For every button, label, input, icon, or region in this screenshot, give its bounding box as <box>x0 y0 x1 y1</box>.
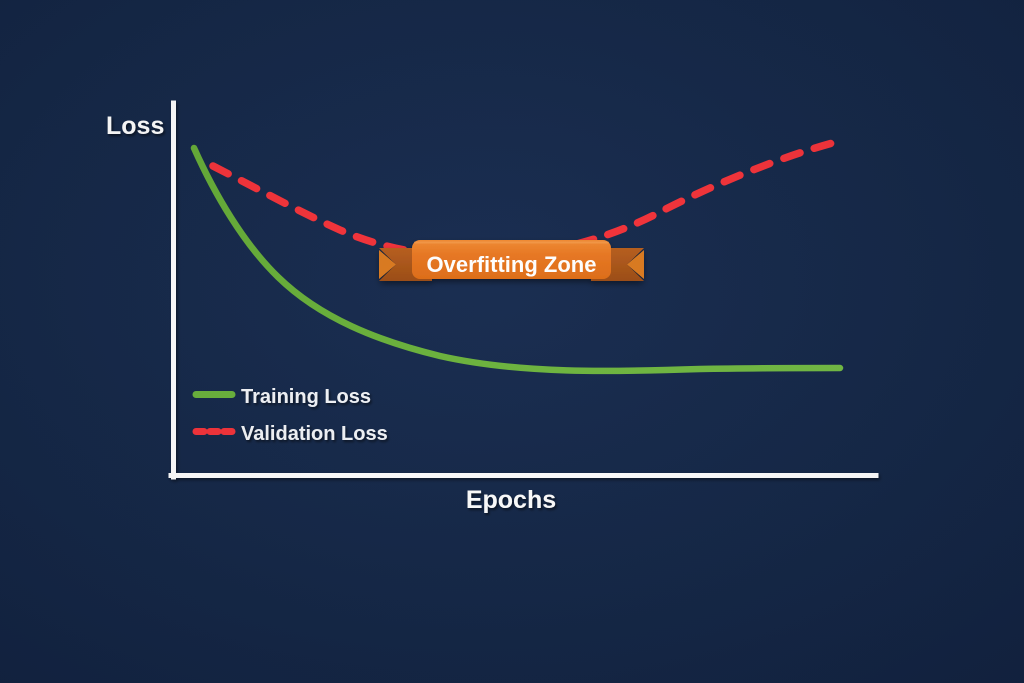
legend-item-training-loss: Training Loss <box>196 386 371 408</box>
loss-curves-chart: Loss Epochs Overfitting Zone Train <box>0 0 1024 683</box>
overfitting-zone-banner: Overfitting Zone <box>379 240 644 281</box>
x-axis-label: Epochs <box>466 486 556 514</box>
legend-item-validation-loss: Validation Loss <box>196 423 388 445</box>
legend-label-training-loss: Training Loss <box>241 386 371 408</box>
legend-label-validation-loss: Validation Loss <box>241 423 388 445</box>
chart-figure: Loss Epochs Overfitting Zone Train <box>0 0 1024 683</box>
ribbon-label: Overfitting Zone <box>427 252 597 277</box>
ribbon-plate-highlight <box>414 242 609 244</box>
chart-legend: Training Loss Validation Loss <box>196 386 388 445</box>
validation-loss-curve <box>213 142 836 257</box>
chart-axes <box>171 103 876 477</box>
y-axis-label: Loss <box>106 112 164 140</box>
